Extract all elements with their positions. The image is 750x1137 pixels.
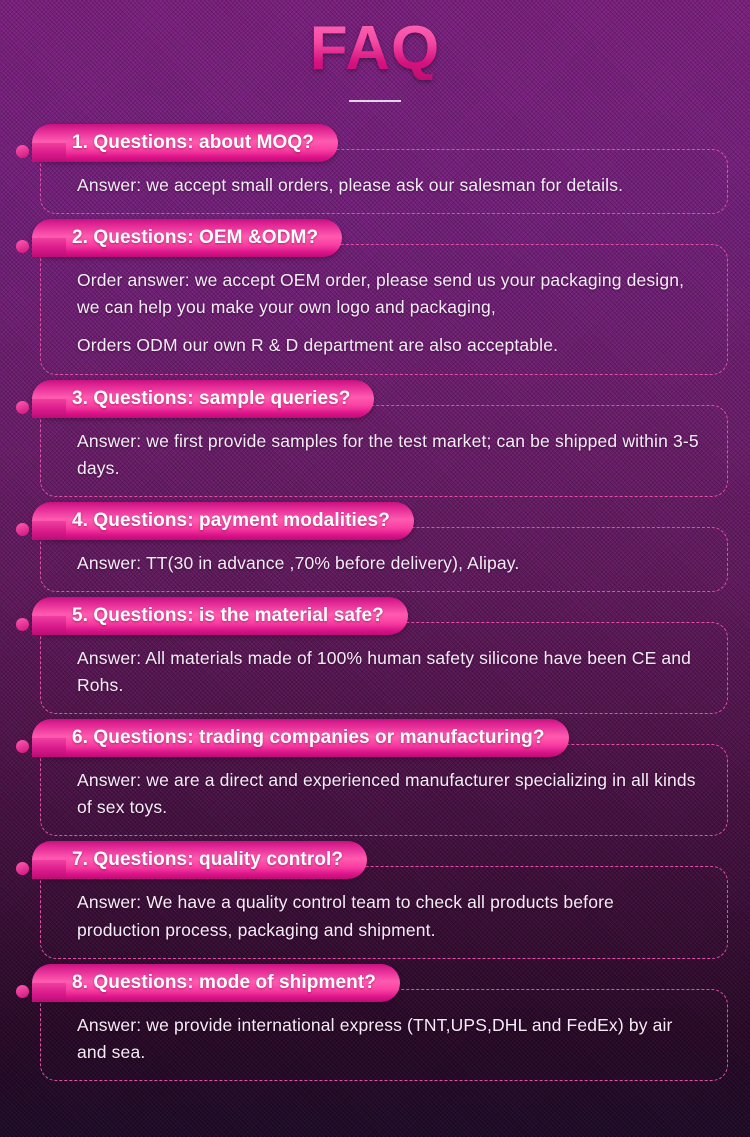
question-pill-tail xyxy=(32,521,66,540)
question-pill[interactable]: 4. Questions: payment modalities? xyxy=(32,502,414,540)
question-pill-tail xyxy=(32,983,66,1002)
answer-box: Answer: we first provide samples for the… xyxy=(40,405,728,497)
question-row: 3. Questions: sample queries? xyxy=(0,380,750,418)
question-pill[interactable]: 1. Questions: about MOQ? xyxy=(32,124,338,162)
answer-box: Answer: We have a quality control team t… xyxy=(40,866,728,958)
question-pill[interactable]: 6. Questions: trading companies or manuf… xyxy=(32,719,569,757)
question-row: 6. Questions: trading companies or manuf… xyxy=(0,719,750,757)
bullet-dot-icon xyxy=(16,985,29,998)
faq-list: 1. Questions: about MOQ?Answer: we accep… xyxy=(0,124,750,1081)
page-title: FAQ xyxy=(310,18,440,80)
question-pill-tail xyxy=(32,238,66,257)
answer-box: Answer: we are a direct and experienced … xyxy=(40,744,728,836)
answer-box: Answer: All materials made of 100% human… xyxy=(40,622,728,714)
question-pill[interactable]: 3. Questions: sample queries? xyxy=(32,380,374,418)
question-pill[interactable]: 5. Questions: is the material safe? xyxy=(32,597,408,635)
answer-text: Order answer: we accept OEM order, pleas… xyxy=(77,267,701,321)
question-pill-tail xyxy=(32,738,66,757)
answer-text: Answer: we accept small orders, please a… xyxy=(77,172,701,199)
question-pill-tail xyxy=(32,143,66,162)
answer-box: Order answer: we accept OEM order, pleas… xyxy=(40,244,728,374)
question-pill[interactable]: 7. Questions: quality control? xyxy=(32,841,367,879)
question-row: 8. Questions: mode of shipment? xyxy=(0,964,750,1002)
faq-item: 1. Questions: about MOQ?Answer: we accep… xyxy=(0,124,750,214)
question-pill[interactable]: 2. Questions: OEM &ODM? xyxy=(32,219,342,257)
bullet-dot-icon xyxy=(16,618,29,631)
faq-item: 5. Questions: is the material safe?Answe… xyxy=(0,597,750,714)
bullet-dot-icon xyxy=(16,401,29,414)
bullet-dot-icon xyxy=(16,145,29,158)
question-row: 5. Questions: is the material safe? xyxy=(0,597,750,635)
question-row: 4. Questions: payment modalities? xyxy=(0,502,750,540)
faq-item: 4. Questions: payment modalities?Answer:… xyxy=(0,502,750,592)
faq-item: 8. Questions: mode of shipment?Answer: w… xyxy=(0,964,750,1081)
question-pill-tail xyxy=(32,860,66,879)
faq-item: 3. Questions: sample queries?Answer: we … xyxy=(0,380,750,497)
answer-text: Answer: All materials made of 100% human… xyxy=(77,645,701,699)
answer-text: Answer: we provide international express… xyxy=(77,1012,701,1066)
answer-text: Answer: we first provide samples for the… xyxy=(77,428,701,482)
faq-item: 2. Questions: OEM &ODM?Order answer: we … xyxy=(0,219,750,374)
faq-page: FAQ 1. Questions: about MOQ?Answer: we a… xyxy=(0,0,750,1137)
question-pill-tail xyxy=(32,399,66,418)
answer-text: Answer: We have a quality control team t… xyxy=(77,889,701,943)
question-row: 2. Questions: OEM &ODM? xyxy=(0,219,750,257)
page-header: FAQ xyxy=(0,0,750,102)
answer-text: Answer: TT(30 in advance ,70% before del… xyxy=(77,550,701,577)
faq-item: 7. Questions: quality control?Answer: We… xyxy=(0,841,750,958)
question-pill-tail xyxy=(32,616,66,635)
question-row: 7. Questions: quality control? xyxy=(0,841,750,879)
title-divider xyxy=(349,100,401,102)
answer-text: Answer: we are a direct and experienced … xyxy=(77,767,701,821)
question-row: 1. Questions: about MOQ? xyxy=(0,124,750,162)
answer-text: Orders ODM our own R & D department are … xyxy=(77,332,701,359)
faq-item: 6. Questions: trading companies or manuf… xyxy=(0,719,750,836)
bullet-dot-icon xyxy=(16,523,29,536)
question-pill[interactable]: 8. Questions: mode of shipment? xyxy=(32,964,400,1002)
answer-box: Answer: we provide international express… xyxy=(40,989,728,1081)
